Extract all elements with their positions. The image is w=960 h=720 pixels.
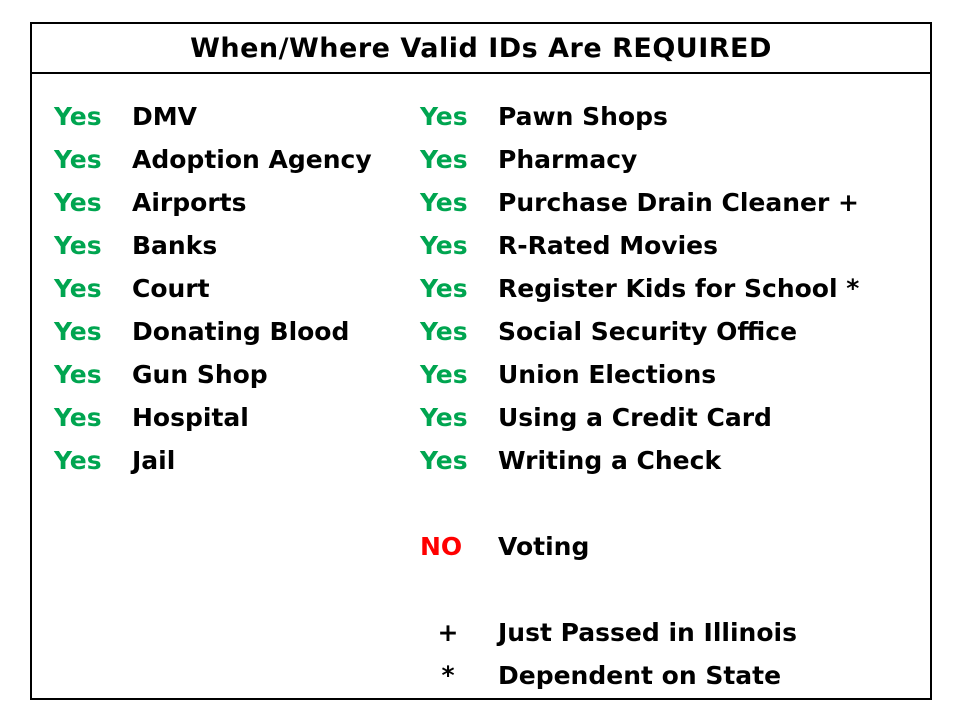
answer-badge: Yes — [54, 317, 132, 346]
title-bar: When/Where Valid IDs Are REQUIRED — [32, 24, 930, 74]
answer-badge-no: NO — [420, 532, 498, 561]
item-label: Register Kids for School * — [498, 274, 859, 303]
answer-badge: Yes — [420, 274, 498, 303]
item-label: Pawn Shops — [498, 102, 668, 131]
list-item: Yes Using a Credit Card — [420, 403, 930, 446]
list-item: Yes Hospital — [54, 403, 420, 446]
item-label: R-Rated Movies — [498, 231, 718, 260]
footnote: * Dependent on State — [420, 661, 930, 704]
spacer — [420, 575, 930, 618]
answer-badge: Yes — [54, 446, 132, 475]
item-label: Adoption Agency — [132, 145, 372, 174]
list-item: Yes Writing a Check — [420, 446, 930, 489]
answer-badge: Yes — [420, 403, 498, 432]
item-label: Donating Blood — [132, 317, 349, 346]
answer-badge: Yes — [420, 317, 498, 346]
page-title: When/Where Valid IDs Are REQUIRED — [190, 33, 772, 64]
list-item: Yes Airports — [54, 188, 420, 231]
item-label: Using a Credit Card — [498, 403, 772, 432]
answer-badge: Yes — [54, 403, 132, 432]
item-label: Pharmacy — [498, 145, 637, 174]
item-label: Gun Shop — [132, 360, 268, 389]
right-column: Yes Pawn Shops Yes Pharmacy Yes Purchase… — [420, 102, 930, 704]
item-label: Writing a Check — [498, 446, 721, 475]
list-item: Yes Donating Blood — [54, 317, 420, 360]
item-label: DMV — [132, 102, 197, 131]
poster-container: When/Where Valid IDs Are REQUIRED Yes DM… — [30, 22, 932, 700]
item-label: Airports — [132, 188, 246, 217]
spacer — [420, 489, 930, 532]
list-item: Yes Union Elections — [420, 360, 930, 403]
item-label: Social Security Office — [498, 317, 797, 346]
answer-badge: Yes — [420, 446, 498, 475]
list-item: Yes Gun Shop — [54, 360, 420, 403]
answer-badge: Yes — [420, 102, 498, 131]
left-column: Yes DMV Yes Adoption Agency Yes Airports… — [32, 102, 420, 704]
answer-badge: Yes — [54, 231, 132, 260]
list-item: Yes Register Kids for School * — [420, 274, 930, 317]
answer-badge: Yes — [54, 360, 132, 389]
item-label: Purchase Drain Cleaner + — [498, 188, 859, 217]
list-item: Yes Adoption Agency — [54, 145, 420, 188]
answer-badge: Yes — [420, 231, 498, 260]
list-item: Yes Pawn Shops — [420, 102, 930, 145]
list-item: Yes Social Security Office — [420, 317, 930, 360]
list-item: Yes DMV — [54, 102, 420, 145]
list-item: Yes Pharmacy — [420, 145, 930, 188]
item-label: Union Elections — [498, 360, 716, 389]
footnote-text: Just Passed in Illinois — [498, 618, 797, 647]
answer-badge: Yes — [54, 274, 132, 303]
item-label: Hospital — [132, 403, 249, 432]
answer-badge: Yes — [54, 188, 132, 217]
list-item: Yes Banks — [54, 231, 420, 274]
answer-badge: Yes — [420, 145, 498, 174]
list-item: Yes R-Rated Movies — [420, 231, 930, 274]
columns-container: Yes DMV Yes Adoption Agency Yes Airports… — [32, 74, 930, 704]
item-label: Court — [132, 274, 210, 303]
answer-badge: Yes — [54, 145, 132, 174]
item-label: Banks — [132, 231, 217, 260]
highlight-row: NO Voting — [420, 532, 930, 575]
footnote-text: Dependent on State — [498, 661, 781, 690]
footnote: + Just Passed in Illinois — [420, 618, 930, 661]
item-label: Jail — [132, 446, 175, 475]
footnote-mark: * — [420, 661, 498, 690]
answer-badge: Yes — [420, 360, 498, 389]
list-item: Yes Jail — [54, 446, 420, 489]
answer-badge: Yes — [420, 188, 498, 217]
footnote-mark: + — [420, 618, 498, 647]
list-item: Yes Purchase Drain Cleaner + — [420, 188, 930, 231]
answer-badge: Yes — [54, 102, 132, 131]
list-item: Yes Court — [54, 274, 420, 317]
item-label: Voting — [498, 532, 589, 561]
